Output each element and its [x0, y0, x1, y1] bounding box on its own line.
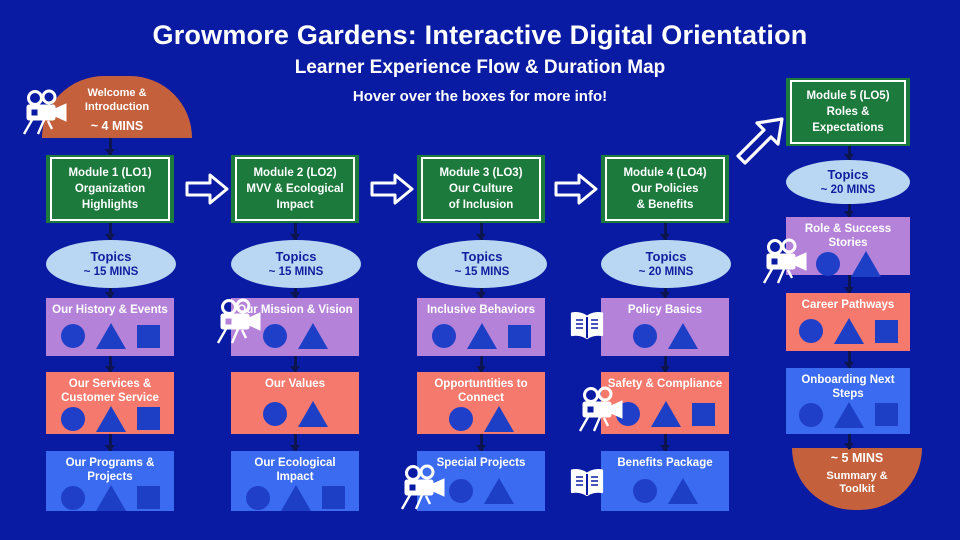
connector-c3-card2-card3 [480, 434, 483, 451]
triangle-icon [668, 478, 698, 504]
module-box-module-3[interactable]: Module 3 (LO3) Our Culture of Inclusion [417, 155, 545, 223]
topic-card-benefits-package[interactable]: Benefits Package [601, 451, 729, 511]
square-icon [692, 403, 715, 426]
connector-c1-card2-card3 [109, 434, 112, 451]
shape-row [449, 478, 514, 504]
shape-row [61, 323, 160, 349]
topics-ellipse-module-2[interactable]: Topics ~ 15 MINS [231, 240, 361, 288]
connector-c2-card1-card2 [294, 356, 297, 372]
circle-icon [799, 403, 823, 427]
start-node-duration: ~ 4 MINS [91, 119, 143, 134]
start-node-title-line2: Introduction [85, 101, 149, 114]
module-1-line1: Module 1 (LO1) [68, 165, 151, 181]
circle-icon [61, 486, 85, 510]
topics-label-3: Topics [462, 249, 503, 265]
shape-row [263, 401, 328, 427]
topic-card-inclusive-behaviors[interactable]: Inclusive Behaviors [417, 298, 545, 356]
topic-card-our-history-events[interactable]: Our History & Events [46, 298, 174, 356]
connector-c3-card1-card2 [480, 356, 483, 372]
triangle-icon [96, 323, 126, 349]
triangle-icon [851, 251, 881, 277]
module-1-line2: Organization [75, 181, 145, 197]
square-icon [508, 325, 531, 348]
connector-module4-to-topics [664, 223, 667, 240]
topics-ellipse-module-5[interactable]: Topics ~ 20 MINS [786, 160, 910, 204]
topic-card-our-services-customer-service[interactable]: Our Services & Customer Service [46, 372, 174, 434]
connector-module5-to-end [848, 434, 851, 449]
topics-label-1: Topics [91, 249, 132, 265]
circle-icon [633, 479, 657, 503]
connector-c2-card2-card3 [294, 434, 297, 451]
module-5-line3: Expectations [812, 120, 884, 136]
topics-label-2: Topics [276, 249, 317, 265]
video-camera-icon [22, 88, 72, 136]
module-4-line1: Module 4 (LO4) [623, 165, 706, 181]
triangle-icon [668, 323, 698, 349]
topic-card-label: Our Values [261, 377, 329, 391]
topics-duration-4: ~ 20 MINS [639, 265, 694, 279]
topics-duration-2: ~ 15 MINS [269, 265, 324, 279]
video-camera-icon [578, 385, 628, 433]
module-4-line2: Our Policies [631, 181, 698, 197]
connector-topics2-to-card1 [294, 288, 297, 298]
module-box-module-1[interactable]: Module 1 (LO1) Organization Highlights [46, 155, 174, 223]
connector-c1-card1-card2 [109, 356, 112, 372]
topic-card-label: Opportuntities to Connect [417, 377, 545, 406]
module-2-line3: Impact [276, 197, 313, 213]
topic-card-our-values[interactable]: Our Values [231, 372, 359, 434]
connector-topics5-to-card1 [848, 204, 851, 217]
topic-card-label: Our Programs & Projects [46, 456, 174, 485]
connector-c4-card1-card2 [664, 356, 667, 372]
topic-card-label: Benefits Package [613, 456, 716, 470]
circle-icon [263, 324, 287, 348]
topic-card-label: Our Ecological Impact [231, 456, 359, 485]
circle-icon [449, 407, 473, 431]
circle-icon [816, 252, 840, 276]
module-2-line2: MVV & Ecological [246, 181, 343, 197]
triangle-icon [281, 485, 311, 511]
circle-icon [449, 479, 473, 503]
module-box-module-4[interactable]: Module 4 (LO4) Our Policies & Benefits [601, 155, 729, 223]
square-icon [322, 486, 345, 509]
end-node-title-line1: Summary & [826, 470, 887, 483]
start-node-title-line1: Welcome & [87, 87, 146, 100]
topic-card-label: Onboarding Next Steps [786, 373, 910, 402]
end-node-duration: ~ 5 MINS [831, 451, 883, 466]
triangle-icon [834, 318, 864, 344]
shape-row [61, 406, 160, 432]
connector-topics4-to-card1 [664, 288, 667, 298]
book-icon [568, 465, 606, 501]
topics-ellipse-module-4[interactable]: Topics ~ 20 MINS [601, 240, 731, 288]
connector-start-to-module1 [109, 138, 112, 155]
module-3-line1: Module 3 (LO3) [439, 165, 522, 181]
orientation-flow-diagram: Growmore Gardens: Interactive Digital Or… [0, 0, 960, 540]
arrow-module2-to-module3 [369, 170, 415, 208]
shape-row [799, 402, 898, 428]
circle-icon [432, 324, 456, 348]
shape-row [633, 478, 698, 504]
module-box-module-5[interactable]: Module 5 (LO5) Roles & Expectations [786, 78, 910, 146]
shape-row [616, 401, 715, 427]
triangle-icon [298, 401, 328, 427]
square-icon [875, 403, 898, 426]
topic-card-onboarding-next-steps[interactable]: Onboarding Next Steps [786, 368, 910, 434]
module-4-line3: & Benefits [637, 197, 694, 213]
circle-icon [61, 407, 85, 431]
triangle-icon [484, 478, 514, 504]
topics-duration-1: ~ 15 MINS [84, 265, 139, 279]
arrow-module4-to-module5 [730, 112, 790, 172]
topic-card-label: Our History & Events [48, 303, 172, 317]
topic-card-label: Inclusive Behaviors [423, 303, 539, 317]
topics-label-4: Topics [646, 249, 687, 265]
connector-module1-to-topics [109, 223, 112, 240]
connector-topics1-to-card1 [109, 288, 112, 298]
circle-icon [246, 486, 270, 510]
circle-icon [799, 319, 823, 343]
triangle-icon [298, 323, 328, 349]
video-camera-icon [762, 237, 812, 285]
shape-row [432, 323, 531, 349]
shape-row [263, 323, 328, 349]
topic-card-our-programs-projects[interactable]: Our Programs & Projects [46, 451, 174, 511]
module-3-line3: of Inclusion [449, 197, 514, 213]
connector-c5-card1-card2 [848, 275, 851, 293]
circle-icon [263, 402, 287, 426]
triangle-icon [651, 401, 681, 427]
end-node-title-line2: Toolkit [839, 483, 874, 496]
shape-row [449, 406, 514, 432]
triangle-icon [467, 323, 497, 349]
module-5-line2: Roles & [827, 104, 870, 120]
page-subtitle: Learner Experience Flow & Duration Map [0, 57, 960, 79]
page-title: Growmore Gardens: Interactive Digital Or… [0, 20, 960, 51]
shape-row [61, 485, 160, 511]
triangle-icon [484, 406, 514, 432]
end-node-summary-toolkit[interactable]: ~ 5 MINS Summary & Toolkit [792, 448, 922, 510]
module-5-line1: Module 5 (LO5) [806, 88, 889, 104]
connector-module2-to-topics [294, 223, 297, 240]
topics-duration-3: ~ 15 MINS [455, 265, 510, 279]
module-1-line3: Highlights [82, 197, 138, 213]
square-icon [137, 325, 160, 348]
square-icon [875, 320, 898, 343]
connector-topics3-to-card1 [480, 288, 483, 298]
connector-c4-card2-card3 [664, 434, 667, 451]
square-icon [137, 407, 160, 430]
arrow-module1-to-module2 [184, 170, 230, 208]
connector-module3-to-topics [480, 223, 483, 240]
circle-icon [633, 324, 657, 348]
shape-row [633, 323, 698, 349]
shape-row [246, 485, 345, 511]
topic-card-career-pathways[interactable]: Career Pathways [786, 293, 910, 351]
connector-module5-to-topics [848, 146, 851, 160]
book-icon [568, 308, 606, 344]
topics-ellipse-module-3[interactable]: Topics ~ 15 MINS [417, 240, 547, 288]
topic-card-our-ecological-impact[interactable]: Our Ecological Impact [231, 451, 359, 511]
topics-duration-5: ~ 20 MINS [821, 183, 876, 197]
shape-row [799, 318, 898, 344]
video-camera-icon [216, 297, 266, 345]
triangle-icon [834, 402, 864, 428]
circle-icon [61, 324, 85, 348]
connector-c5-card2-card3 [848, 351, 851, 368]
module-3-line2: Our Culture [449, 181, 513, 197]
triangle-icon [96, 485, 126, 511]
topics-label-5: Topics [828, 167, 869, 183]
topic-card-label: Our Services & Customer Service [46, 377, 174, 406]
video-camera-icon [400, 463, 450, 511]
topic-card-opportunities-to-connect[interactable]: Opportuntities to Connect [417, 372, 545, 434]
shape-row [816, 251, 881, 277]
module-box-module-2[interactable]: Module 2 (LO2) MVV & Ecological Impact [231, 155, 359, 223]
module-2-line1: Module 2 (LO2) [253, 165, 336, 181]
triangle-icon [96, 406, 126, 432]
square-icon [137, 486, 160, 509]
topic-card-policy-basics[interactable]: Policy Basics [601, 298, 729, 356]
topic-card-label: Career Pathways [798, 298, 899, 312]
arrow-module3-to-module4 [553, 170, 599, 208]
topic-card-label: Policy Basics [624, 303, 706, 317]
topics-ellipse-module-1[interactable]: Topics ~ 15 MINS [46, 240, 176, 288]
